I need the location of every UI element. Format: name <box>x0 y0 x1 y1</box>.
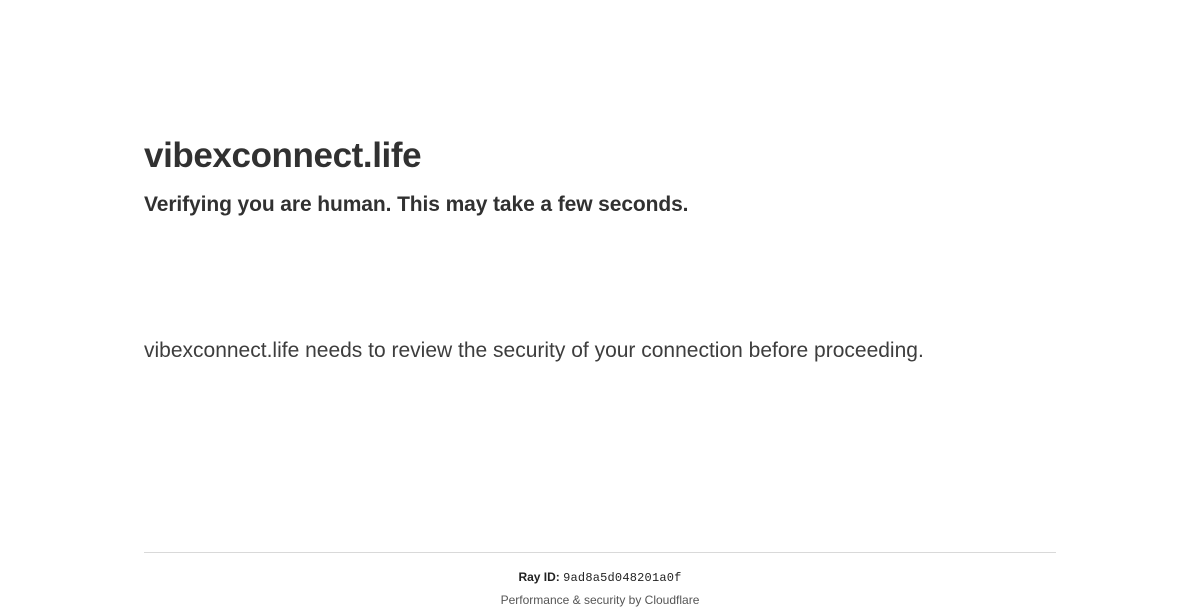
page-title: vibexconnect.life <box>144 0 1056 178</box>
challenge-page: vibexconnect.life Verifying you are huma… <box>0 0 1200 600</box>
footer-text-block: Ray ID: 9ad8a5d048201a0f Performance & s… <box>144 553 1056 607</box>
ray-id-line: Ray ID: 9ad8a5d048201a0f <box>144 570 1056 585</box>
ray-id-label: Ray ID: <box>518 570 559 584</box>
page-footer: Ray ID: 9ad8a5d048201a0f Performance & s… <box>144 552 1056 607</box>
cloudflare-link[interactable]: Cloudflare <box>645 593 700 607</box>
attribution-prefix: Performance & security by <box>501 593 645 607</box>
turnstile-challenge-widget[interactable] <box>144 237 444 323</box>
attribution-line: Performance & security by Cloudflare <box>144 585 1056 607</box>
challenge-content: vibexconnect.life Verifying you are huma… <box>144 0 1056 369</box>
ray-id-value: 9ad8a5d048201a0f <box>563 571 681 585</box>
security-review-description: vibexconnect.life needs to review the se… <box>144 323 944 369</box>
verification-status-text: Verifying you are human. This may take a… <box>144 178 1056 219</box>
